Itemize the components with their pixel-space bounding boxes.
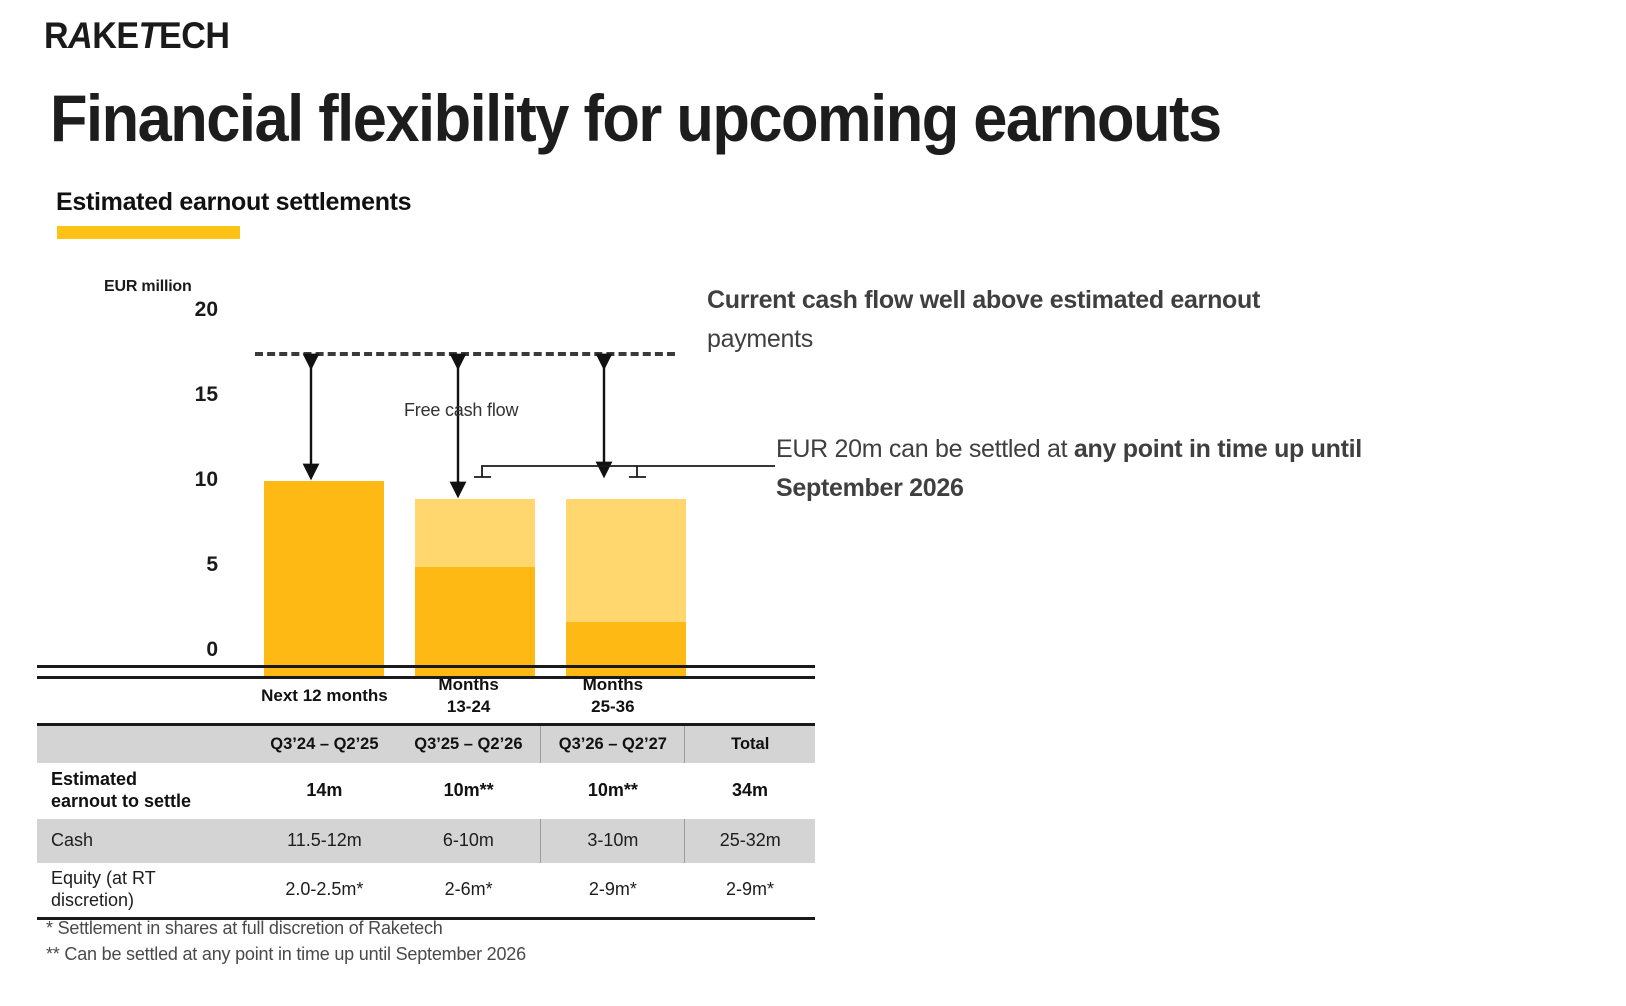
callout-2-regular: EUR 20m can be settled at [776, 435, 1074, 463]
earnout-table: Next 12 months Months 13-24 Months 25-36… [37, 665, 815, 920]
estimated-earnout-c2: 10m** [397, 763, 541, 819]
cash-c3: 3-10m [541, 819, 685, 863]
table-row-cash: Cash 11.5-12m 6-10m 3-10m 25-32m [37, 819, 815, 863]
equity-c3: 2-9m* [541, 863, 685, 917]
table-row-quarters: Q3’24 – Q2’25 Q3’25 – Q2’26 Q3’26 – Q2’2… [37, 725, 815, 763]
callout-eur-20m: EUR 20m can be settled at any point in t… [776, 430, 1416, 508]
period-blank-cell [37, 667, 252, 725]
row-label-estimated-earnout: Estimated earnout to settle [37, 763, 252, 819]
estimated-earnout-c1: 14m [252, 763, 396, 819]
period-months-13-24-line1: Months [438, 675, 498, 694]
table-row-estimated-earnout: Estimated earnout to settle 14m 10m** 10… [37, 763, 815, 819]
period-next-12-months: Next 12 months [252, 667, 396, 725]
table-row-periods: Next 12 months Months 13-24 Months 25-36 [37, 667, 815, 725]
period-months-25-36-line2: 25-36 [591, 697, 634, 716]
slide-canvas: RAKETECH Financial flexibility for upcom… [0, 0, 1626, 1006]
estimated-earnout-c3: 10m** [541, 763, 685, 819]
quarters-total-header: Total [685, 725, 815, 763]
row-label-estimated-line1: Estimated [51, 769, 137, 789]
quarters-q325-q226: Q3’25 – Q2’26 [397, 725, 541, 763]
cash-c1: 11.5-12m [252, 819, 396, 863]
period-months-25-36: Months 25-36 [541, 667, 685, 725]
row-label-equity: Equity (at RT discretion) [37, 863, 252, 917]
period-total-blank [685, 667, 815, 725]
callout-cash-flow: Current cash flow well above estimated e… [707, 281, 1307, 359]
row-label-cash: Cash [37, 819, 252, 863]
callout-1-bold: Current cash flow well above estimated e… [707, 286, 1260, 314]
estimated-earnout-total: 34m [685, 763, 815, 819]
callout-1-regular: payments [707, 325, 813, 353]
cash-c2: 6-10m [397, 819, 541, 863]
period-months-13-24: Months 13-24 [397, 667, 541, 725]
earnout-bar-chart: EUR million 20 15 10 5 0 [0, 0, 830, 700]
cash-total: 25-32m [685, 819, 815, 863]
equity-c2: 2-6m* [397, 863, 541, 917]
row-label-equity-line1: Equity (at RT [51, 868, 156, 888]
row-label-estimated-line2: earnout to settle [51, 791, 191, 811]
earnout-table-grid: Next 12 months Months 13-24 Months 25-36… [37, 665, 815, 917]
equity-c1: 2.0-2.5m* [252, 863, 396, 917]
period-months-25-36-line1: Months [583, 675, 643, 694]
footnote-single-asterisk: * Settlement in shares at full discretio… [46, 918, 846, 939]
free-cash-flow-label: Free cash flow [404, 400, 518, 421]
chart-annotation-arrows [0, 0, 830, 700]
footnote-double-asterisk: ** Can be settled at any point in time u… [46, 944, 846, 965]
table-row-equity: Equity (at RT discretion) 2.0-2.5m* 2-6m… [37, 863, 815, 917]
quarters-q326-q227: Q3’26 – Q2’27 [541, 725, 685, 763]
quarters-q324-q225: Q3’24 – Q2’25 [252, 725, 396, 763]
bracket-line-left [482, 466, 775, 477]
period-months-13-24-line2: 13-24 [447, 697, 490, 716]
row-label-equity-line2: discretion) [51, 890, 134, 910]
equity-total: 2-9m* [685, 863, 815, 917]
quarters-blank-cell [37, 725, 252, 763]
